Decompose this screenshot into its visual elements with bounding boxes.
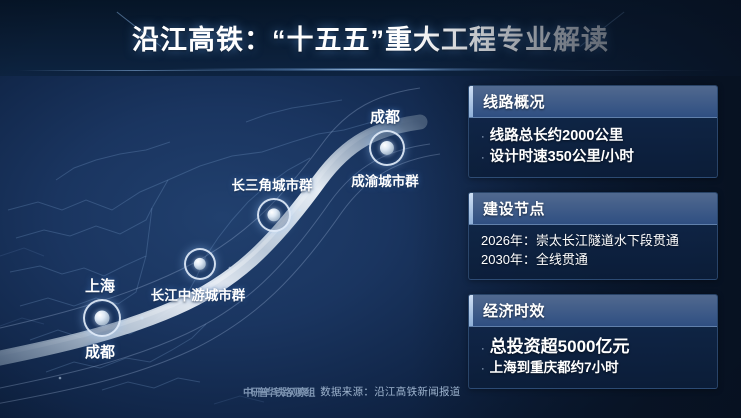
card-economics-item-text: 总投资超5000亿元 xyxy=(490,335,630,358)
card-route-overview-item: ·设计时速350公里/小时 xyxy=(481,147,707,167)
card-economics-title: 经济时效 xyxy=(483,300,707,321)
infographic-slide: 上海成都长江中游城市群长三角城市群成都成渝城市群 沿江高铁：“十五五”重大工程专… xyxy=(0,0,741,418)
card-economics-header: 经济时效 xyxy=(469,295,717,327)
bullet-dot-icon: · xyxy=(481,364,485,375)
bullet-dot-icon: · xyxy=(481,132,485,143)
bullet-dot-icon: · xyxy=(481,153,485,164)
bullet-dot-icon: · xyxy=(481,344,485,355)
card-economics-body: ·总投资超5000亿元·上海到重庆都约7小时 xyxy=(469,327,717,388)
card-route-overview-header: 线路概况 xyxy=(469,86,717,118)
card-economics-item: ·上海到重庆都约7小时 xyxy=(481,359,707,378)
card-route-overview-item-text: 设计时速350公里/小时 xyxy=(490,147,634,167)
footer: 中研普华铁路观察组 数据来源：沿江高铁新闻报道 xyxy=(243,384,461,399)
data-source-label: 数据来源：沿江高铁新闻报道 xyxy=(320,384,460,399)
card-economics-item-text: 上海到重庆都约7小时 xyxy=(490,359,619,378)
card-route-overview-title: 线路概况 xyxy=(483,91,707,112)
card-milestones-item: 2030年：全线贯通 xyxy=(481,251,707,270)
card-route-overview-body: ·线路总长约2000公里·设计时速350公里/小时 xyxy=(469,118,717,177)
card-route-overview-item-text: 线路总长约2000公里 xyxy=(490,126,624,146)
card-economics-item: ·总投资超5000亿元 xyxy=(481,335,707,358)
watermark-label: 中研普华铁路观察组 xyxy=(243,384,313,399)
card-milestones-body: 2026年：崇太长江隧道水下段贯通2030年：全线贯通 xyxy=(469,225,717,279)
card-milestones-header: 建设节点 xyxy=(469,193,717,225)
info-card-list: 线路概况·线路总长约2000公里·设计时速350公里/小时建设节点2026年：崇… xyxy=(468,85,718,403)
card-route-overview-item: ·线路总长约2000公里 xyxy=(481,126,707,146)
card-economics: 经济时效·总投资超5000亿元·上海到重庆都约7小时 xyxy=(468,294,718,389)
card-milestones-title: 建设节点 xyxy=(483,198,707,219)
card-milestones-item: 2026年：崇太长江隧道水下段贯通 xyxy=(481,232,707,251)
card-route-overview: 线路概况·线路总长约2000公里·设计时速350公里/小时 xyxy=(468,85,718,178)
card-milestones: 建设节点2026年：崇太长江隧道水下段贯通2030年：全线贯通 xyxy=(468,192,718,280)
